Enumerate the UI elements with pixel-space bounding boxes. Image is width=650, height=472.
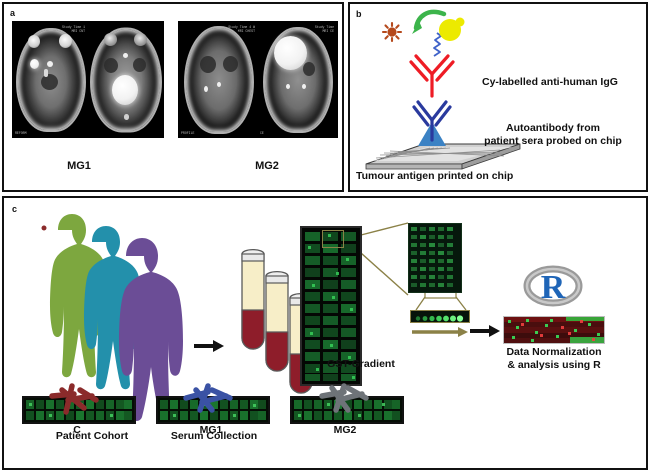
arrow-cohort-to-serum-icon	[194, 340, 224, 352]
mg2-strip-spots	[292, 398, 402, 422]
dicom-overlay-text: Study Time 1 MRI CNT	[62, 25, 85, 33]
gst-gradient-strip	[410, 310, 470, 323]
microarray-callout-box	[322, 230, 344, 248]
cy-label-text: Cy-labelled anti-human IgG	[482, 76, 646, 89]
gst-gradient-label: GST-Gradient	[316, 358, 406, 371]
workflow-panel: c	[2, 196, 648, 470]
microarray-zoom-spots	[409, 224, 461, 292]
patient-cohort-icon	[50, 214, 183, 421]
assay-schematic	[350, 4, 650, 194]
microarray-zoom-block	[408, 223, 462, 293]
arrow-gst-to-normalization-icon	[470, 325, 500, 337]
fluorophore-icon	[439, 18, 465, 42]
linker-squiggle-icon	[434, 33, 441, 56]
mri-caption-mg1: MG1	[44, 160, 114, 172]
normalized-heatmap	[503, 316, 605, 344]
control-strip-spots	[24, 398, 134, 422]
mri-caption-mg2: MG2	[232, 160, 302, 172]
mri-group-mg1: Study Time 1 MRI CNT REFORM	[12, 21, 164, 138]
normalization-label-line1: Data Normalization	[486, 346, 622, 359]
dicom-footer-tag: REFORM	[15, 131, 26, 135]
autoantibody-label-line1: Autoantibody from	[460, 122, 646, 135]
autoantibody-label-line2: patient sera probed on chip	[460, 135, 646, 148]
chip-assay-panel: b	[348, 2, 648, 192]
emission-arrow-icon	[412, 12, 444, 34]
gradient-direction-arrow-icon	[412, 327, 468, 337]
gst-gradient-spots	[411, 313, 469, 323]
callout-connector	[361, 223, 408, 295]
mri-scan-mg2-2: Study Time MRI CE CE	[258, 22, 337, 137]
mri-scan-mg1-1: Study Time 1 MRI CNT REFORM	[13, 22, 88, 137]
antigen-triangle-icon	[418, 122, 446, 146]
normalization-label-line2: & analysis using R	[486, 359, 622, 372]
array-strip-control	[22, 396, 136, 424]
dicom-footer-tag: CE	[260, 131, 264, 135]
dicom-overlay-text: Study Time 4 W MRI CHEST	[228, 25, 255, 33]
dicom-footer-tag: PROFILE	[181, 131, 194, 135]
mri-panel: a Study Time 1 MRI CNT REFORM	[2, 2, 344, 192]
array-strip-mg1	[156, 396, 270, 424]
chip-antigen-label: Tumour antigen printed on chip	[356, 170, 616, 183]
dicom-overlay-text: Study Time MRI CE	[315, 25, 334, 33]
primary-antibody-icon	[414, 102, 450, 140]
figure-root: a Study Time 1 MRI CNT REFORM	[0, 0, 650, 472]
patient-cohort-label: Patient Cohort	[32, 430, 152, 443]
mri-group-mg2: Study Time 4 W MRI CHEST PROFILE Study T…	[178, 21, 338, 138]
array-strip-label-mg2: MG2	[310, 424, 380, 437]
heatmap-cells	[504, 317, 604, 343]
array-strip-mg2	[290, 396, 404, 424]
mg1-strip-spots	[158, 398, 268, 422]
starburst-icon	[383, 23, 401, 41]
svg-text:R: R	[541, 269, 566, 306]
panel-letter-c: c	[12, 204, 17, 214]
panel-letter-b: b	[356, 9, 362, 19]
gradient-connector	[416, 291, 466, 310]
secondary-antibody-icon	[411, 56, 453, 96]
mri-scan-mg1-2	[88, 22, 163, 137]
mri-scan-mg2-1: Study Time 4 W MRI CHEST PROFILE	[179, 22, 258, 137]
serum-collection-label: Serum Collection	[152, 430, 276, 443]
panel-letter-a: a	[10, 8, 15, 18]
r-logo-icon: R	[527, 269, 579, 306]
